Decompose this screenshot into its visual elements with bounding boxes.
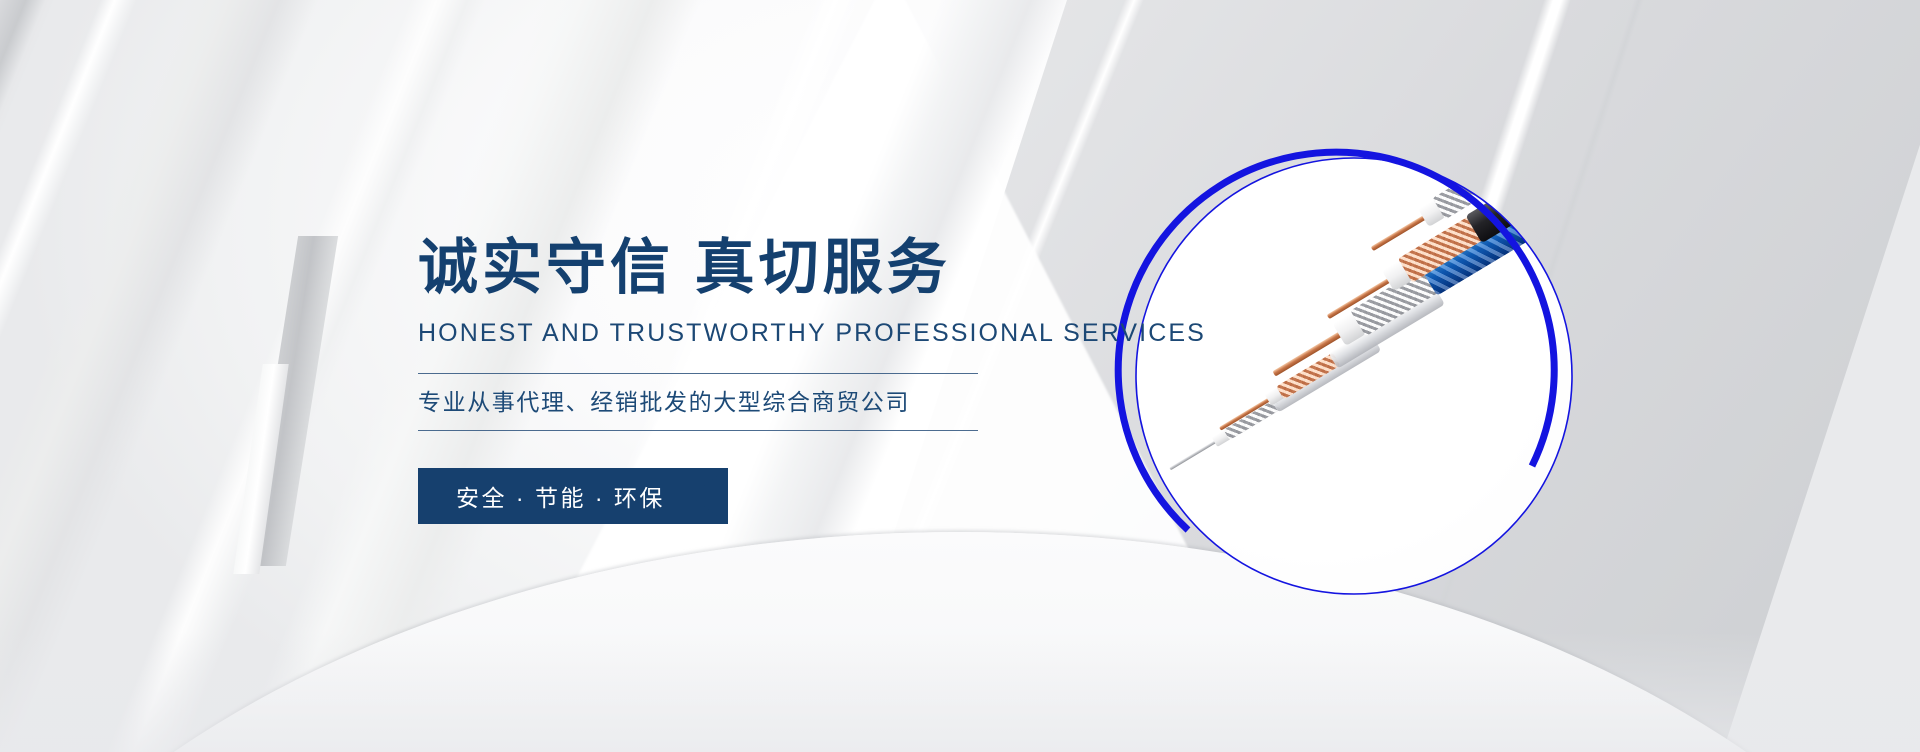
feature-tag-label: 安全 · 节能 · 环保 [418,479,665,513]
background-floor-shadow [0,632,1920,752]
divider-bottom [418,430,978,431]
feature-tag-ribbon: 安全 · 节能 · 环保 [418,468,728,524]
divider-top [418,373,978,374]
feature-tag-shape: 安全 · 节能 · 环保 [418,468,728,524]
ring-decoration [1128,150,1580,602]
page-title: 诚实守信 真切服务 [418,236,1158,299]
hero-text-block: 诚实守信 真切服务 HONEST AND TRUSTWORTHY PROFESS… [418,236,1158,524]
page-subtitle: HONEST AND TRUSTWORTHY PROFESSIONAL SERV… [418,319,1158,348]
page-description: 专业从事代理、经销批发的大型综合商贸公司 [418,374,1158,430]
ring-thin-circle [1136,158,1572,594]
product-medallion: |''|'|''|—'| [1128,150,1580,602]
hero-banner: 诚实守信 真切服务 HONEST AND TRUSTWORTHY PROFESS… [0,0,1920,752]
